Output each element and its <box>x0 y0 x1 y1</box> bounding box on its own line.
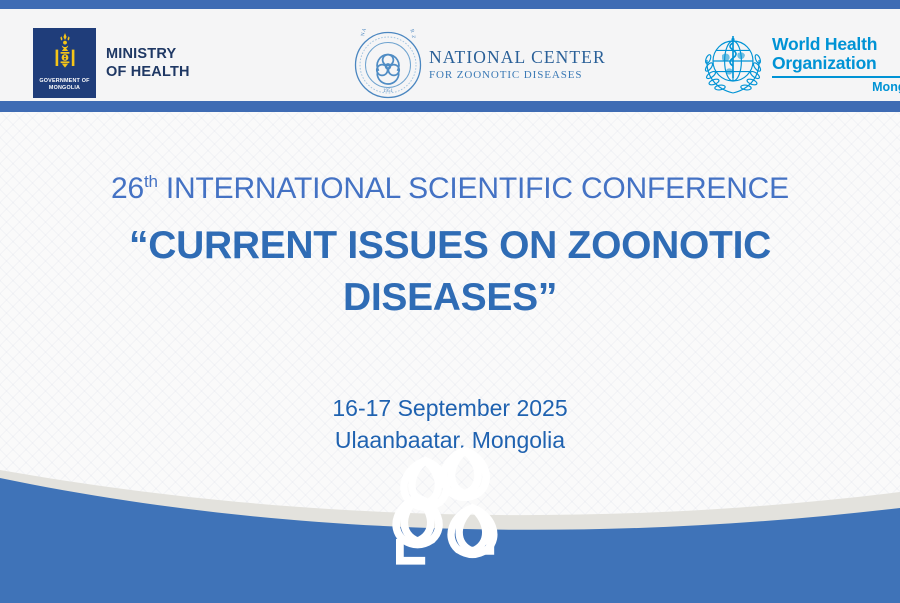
ministry-label-line1: MINISTRY <box>106 45 190 63</box>
page-title-line1: “CURRENT ISSUES ON ZOONOTIC <box>0 220 900 272</box>
who-label-line2: Organization <box>772 54 900 73</box>
ulzii-knot-ornament-right <box>0 436 876 571</box>
ministry-of-health-label: MINISTRY OF HEALTH <box>106 45 190 81</box>
mongolia-government-badge: GOVERNMENT OF MONGOLIA <box>33 28 96 98</box>
who-divider <box>772 76 900 78</box>
page-title: “CURRENT ISSUES ON ZOONOTIC DISEASES” <box>0 220 900 324</box>
header-logo-band: GOVERNMENT OF MONGOLIA MINISTRY OF HEALT… <box>0 9 900 101</box>
biohazard-seal-icon: NATIONAL CENTER FOR ZOONOTIC DISEASES 19… <box>352 29 424 101</box>
title-block: 26th INTERNATIONAL SCIENTIFIC CONFERENCE… <box>0 112 900 456</box>
conference-number: 26 <box>111 172 144 205</box>
who-emblem-icon <box>700 31 766 97</box>
soyombo-emblem-icon <box>50 32 80 76</box>
top-accent-bar <box>0 0 900 9</box>
logo-national-center-zoonotic-diseases: NATIONAL CENTER FOR ZOONOTIC DISEASES 19… <box>352 29 606 101</box>
who-label-line1: World Health <box>772 35 900 54</box>
header-bottom-accent-bar <box>0 101 900 112</box>
ministry-label-line2: OF HEALTH <box>106 63 190 81</box>
conference-title-slide: GOVERNMENT OF MONGOLIA MINISTRY OF HEALT… <box>0 0 900 603</box>
national-center-label: NATIONAL CENTER FOR ZOONOTIC DISEASES <box>429 49 606 81</box>
conference-subtitle-rest: INTERNATIONAL SCIENTIFIC CONFERENCE <box>158 172 789 205</box>
who-wordmark: World Health Organization Mongolia <box>772 35 900 94</box>
logo-world-health-organization: World Health Organization Mongolia <box>700 31 900 97</box>
ncz-label-line2: FOR ZOONOTIC DISEASES <box>429 70 606 81</box>
svg-text:1951: 1951 <box>383 89 394 94</box>
conference-ordinal: th <box>144 172 158 191</box>
footer-wave-decoration <box>0 468 900 603</box>
event-date: 16-17 September 2025 <box>0 392 900 424</box>
who-country-label: Mongolia <box>772 80 900 94</box>
svg-text:NATIONAL CENTER FOR ZOONOTIC D: NATIONAL CENTER FOR ZOONOTIC DISEASES <box>352 29 416 39</box>
badge-caption: GOVERNMENT OF MONGOLIA <box>33 78 96 92</box>
logo-ministry-of-health: GOVERNMENT OF MONGOLIA MINISTRY OF HEALT… <box>33 28 190 98</box>
page-title-line2: DISEASES” <box>0 272 900 324</box>
ncz-label-line1: NATIONAL CENTER <box>429 49 606 67</box>
conference-subtitle: 26th INTERNATIONAL SCIENTIFIC CONFERENCE <box>0 172 900 206</box>
